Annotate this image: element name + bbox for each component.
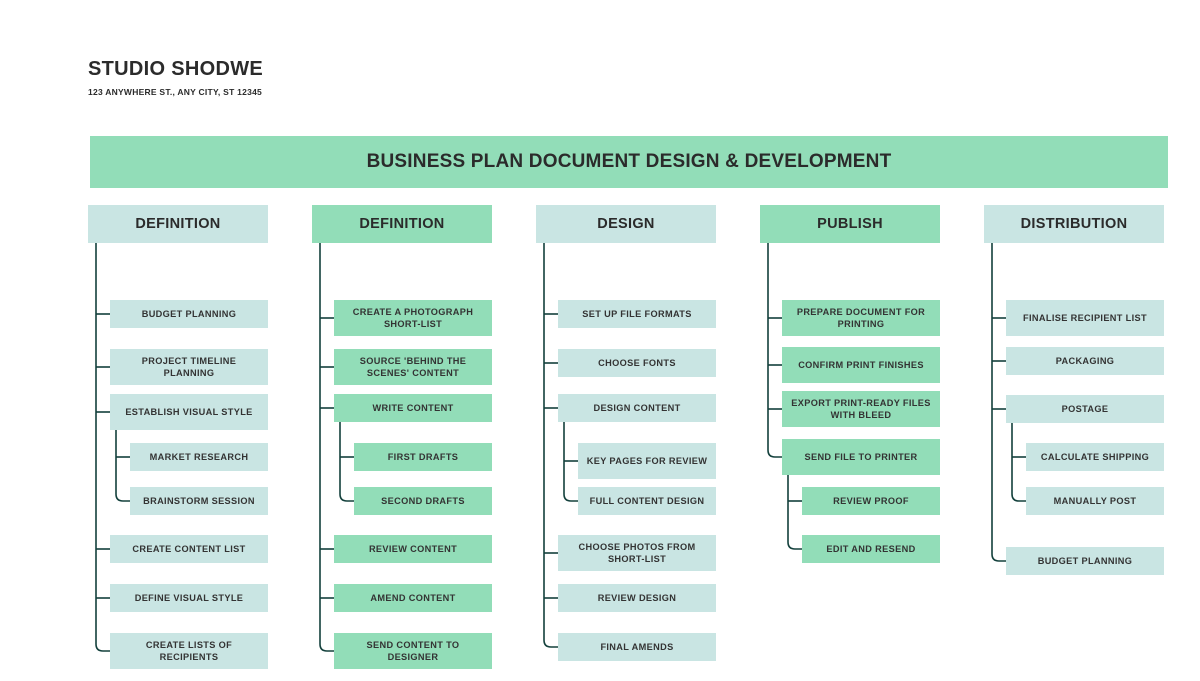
node-label: CONFIRM PRINT FINISHES: [798, 359, 924, 371]
column-publish-3: PUBLISHPREPARE DOCUMENT FOR PRINTINGCONF…: [760, 205, 960, 243]
node-box[interactable]: CONFIRM PRINT FINISHES: [782, 347, 940, 383]
node-box[interactable]: FINAL AMENDS: [558, 633, 716, 661]
node-label: REVIEW PROOF: [833, 495, 909, 507]
node-label: EXPORT PRINT-READY FILES WITH BLEED: [788, 397, 934, 422]
node-label: ESTABLISH VISUAL STYLE: [125, 406, 252, 418]
node-label: SEND CONTENT TO DESIGNER: [340, 639, 486, 664]
connector-line: [96, 243, 110, 651]
node-box[interactable]: CHOOSE PHOTOS FROM SHORT-LIST: [558, 535, 716, 571]
node-box[interactable]: MARKET RESEARCH: [130, 443, 268, 471]
column-definition-0: DEFINITIONBUDGET PLANNINGPROJECT TIMELIN…: [88, 205, 288, 243]
node-box[interactable]: WRITE CONTENT: [334, 394, 492, 422]
node-label: CHOOSE PHOTOS FROM SHORT-LIST: [564, 541, 710, 566]
node-box[interactable]: BUDGET PLANNING: [110, 300, 268, 328]
node-box[interactable]: REVIEW CONTENT: [334, 535, 492, 563]
node-label: MARKET RESEARCH: [150, 451, 249, 463]
node-box[interactable]: FINALISE RECIPIENT LIST: [1006, 300, 1164, 336]
connector-line: [768, 243, 782, 457]
column-header[interactable]: PUBLISH: [760, 205, 940, 243]
node-label: BRAINSTORM SESSION: [143, 495, 255, 507]
title-banner: BUSINESS PLAN DOCUMENT DESIGN & DEVELOPM…: [90, 136, 1168, 188]
node-box[interactable]: FIRST DRAFTS: [354, 443, 492, 471]
connector-line: [1012, 423, 1026, 501]
brand-name: STUDIO SHODWE: [88, 58, 263, 80]
node-label: BUDGET PLANNING: [1038, 555, 1133, 567]
node-box[interactable]: REVIEW DESIGN: [558, 584, 716, 612]
node-label: CALCULATE SHIPPING: [1041, 451, 1149, 463]
node-label: SET UP FILE FORMATS: [582, 308, 691, 320]
column-header-label: DISTRIBUTION: [1021, 216, 1128, 232]
node-label: DEFINE VISUAL STYLE: [135, 592, 244, 604]
node-box[interactable]: PROJECT TIMELINE PLANNING: [110, 349, 268, 385]
node-box[interactable]: DEFINE VISUAL STYLE: [110, 584, 268, 612]
column-definition-1: DEFINITIONCREATE A PHOTOGRAPH SHORT-LIST…: [312, 205, 512, 243]
brand-block: STUDIO SHODWE 123 ANYWHERE ST., ANY CITY…: [88, 58, 263, 97]
node-label: SOURCE 'BEHIND THE SCENES' CONTENT: [340, 355, 486, 380]
node-box[interactable]: EDIT AND RESEND: [802, 535, 940, 563]
node-box[interactable]: DESIGN CONTENT: [558, 394, 716, 422]
node-box[interactable]: SET UP FILE FORMATS: [558, 300, 716, 328]
node-label: FULL CONTENT DESIGN: [590, 495, 705, 507]
node-label: PREPARE DOCUMENT FOR PRINTING: [788, 306, 934, 331]
node-box[interactable]: FULL CONTENT DESIGN: [578, 487, 716, 515]
node-box[interactable]: EXPORT PRINT-READY FILES WITH BLEED: [782, 391, 940, 427]
node-box[interactable]: CREATE A PHOTOGRAPH SHORT-LIST: [334, 300, 492, 336]
node-label: AMEND CONTENT: [370, 592, 455, 604]
node-label: KEY PAGES FOR REVIEW: [587, 455, 708, 467]
node-box[interactable]: CHOOSE FONTS: [558, 349, 716, 377]
column-header-label: DESIGN: [597, 216, 654, 232]
column-header-label: DEFINITION: [359, 216, 444, 232]
node-box[interactable]: CALCULATE SHIPPING: [1026, 443, 1164, 471]
node-box[interactable]: SEND CONTENT TO DESIGNER: [334, 633, 492, 669]
node-box[interactable]: ESTABLISH VISUAL STYLE: [110, 394, 268, 430]
node-label: MANUALLY POST: [1054, 495, 1137, 507]
node-label: BUDGET PLANNING: [142, 308, 237, 320]
node-label: SEND FILE TO PRINTER: [804, 451, 917, 463]
node-box[interactable]: SOURCE 'BEHIND THE SCENES' CONTENT: [334, 349, 492, 385]
node-label: CHOOSE FONTS: [598, 357, 676, 369]
node-box[interactable]: POSTAGE: [1006, 395, 1164, 423]
column-header[interactable]: DEFINITION: [88, 205, 268, 243]
connector-line: [992, 243, 1006, 561]
column-header-label: PUBLISH: [817, 216, 883, 232]
column-header[interactable]: DEFINITION: [312, 205, 492, 243]
node-box[interactable]: CREATE LISTS OF RECIPIENTS: [110, 633, 268, 669]
node-label: CREATE LISTS OF RECIPIENTS: [116, 639, 262, 664]
connector-line: [320, 243, 334, 651]
node-box[interactable]: BRAINSTORM SESSION: [130, 487, 268, 515]
node-label: REVIEW CONTENT: [369, 543, 457, 555]
connector-line: [340, 422, 354, 501]
node-box[interactable]: PREPARE DOCUMENT FOR PRINTING: [782, 300, 940, 336]
mind-map-page: STUDIO SHODWE 123 ANYWHERE ST., ANY CITY…: [0, 0, 1200, 681]
page-title: BUSINESS PLAN DOCUMENT DESIGN & DEVELOPM…: [367, 151, 892, 173]
column-distribution-4: DISTRIBUTIONFINALISE RECIPIENT LISTPACKA…: [984, 205, 1184, 243]
node-box[interactable]: CREATE CONTENT LIST: [110, 535, 268, 563]
connector-line: [788, 475, 802, 549]
node-label: FINAL AMENDS: [600, 641, 673, 653]
node-label: FIRST DRAFTS: [388, 451, 459, 463]
node-box[interactable]: REVIEW PROOF: [802, 487, 940, 515]
node-box[interactable]: SECOND DRAFTS: [354, 487, 492, 515]
connector-line: [564, 422, 578, 501]
node-box[interactable]: PACKAGING: [1006, 347, 1164, 375]
node-box[interactable]: KEY PAGES FOR REVIEW: [578, 443, 716, 479]
column-header[interactable]: DESIGN: [536, 205, 716, 243]
node-label: FINALISE RECIPIENT LIST: [1023, 312, 1147, 324]
column-header-label: DEFINITION: [135, 216, 220, 232]
node-label: SECOND DRAFTS: [381, 495, 465, 507]
column-header[interactable]: DISTRIBUTION: [984, 205, 1164, 243]
column-design-2: DESIGNSET UP FILE FORMATSCHOOSE FONTSDES…: [536, 205, 736, 243]
node-box[interactable]: SEND FILE TO PRINTER: [782, 439, 940, 475]
node-label: EDIT AND RESEND: [826, 543, 915, 555]
node-label: PROJECT TIMELINE PLANNING: [116, 355, 262, 380]
connector-line: [544, 243, 558, 647]
node-label: POSTAGE: [1062, 403, 1109, 415]
node-box[interactable]: AMEND CONTENT: [334, 584, 492, 612]
node-label: CREATE A PHOTOGRAPH SHORT-LIST: [340, 306, 486, 331]
brand-address: 123 ANYWHERE ST., ANY CITY, ST 12345: [88, 87, 263, 97]
node-label: REVIEW DESIGN: [598, 592, 677, 604]
node-label: WRITE CONTENT: [372, 402, 453, 414]
node-label: CREATE CONTENT LIST: [132, 543, 245, 555]
node-label: DESIGN CONTENT: [593, 402, 680, 414]
node-box[interactable]: BUDGET PLANNING: [1006, 547, 1164, 575]
connector-line: [116, 430, 130, 501]
node-box[interactable]: MANUALLY POST: [1026, 487, 1164, 515]
node-label: PACKAGING: [1056, 355, 1115, 367]
